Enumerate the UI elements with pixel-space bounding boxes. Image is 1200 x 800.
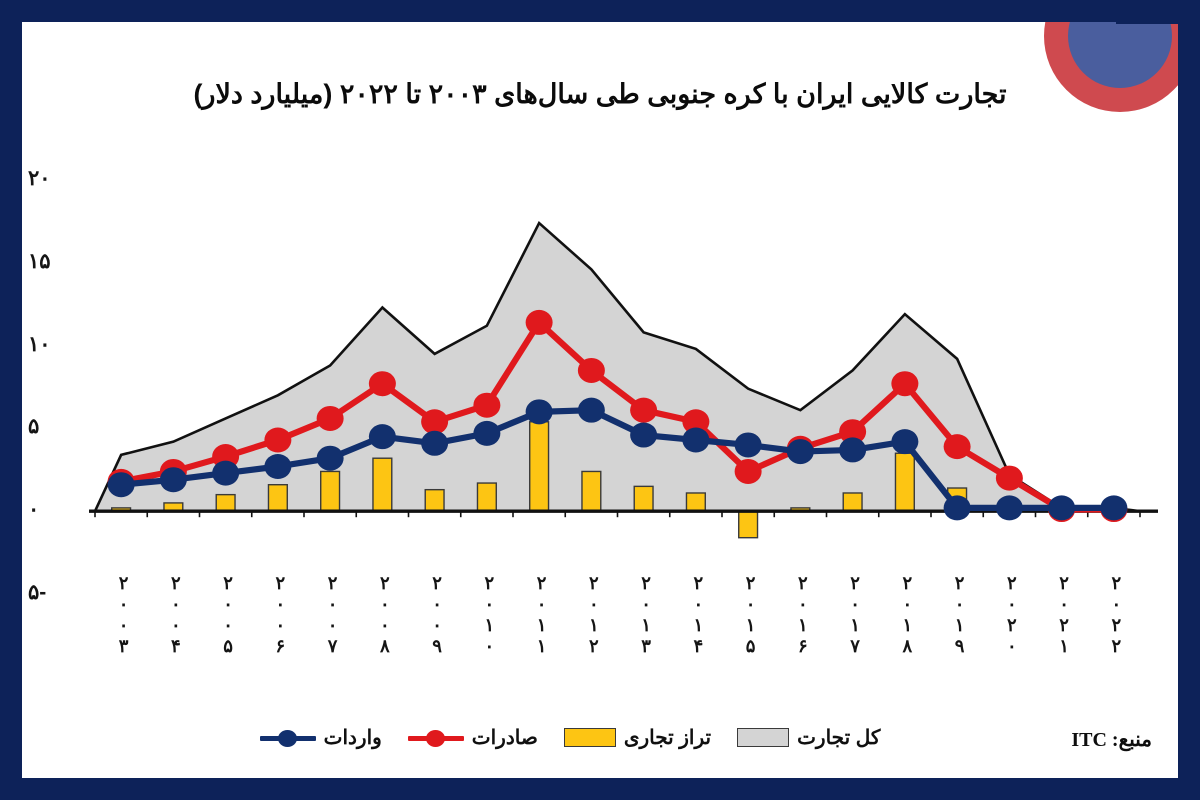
x-axis-year-label: ۲۰۲۰ [998,573,1020,657]
y-axis-tick-label: ۵ [28,414,86,439]
chart-card: تجارت کالایی ایران با کره جنوبی طی سال‌ه… [22,22,1178,778]
x-axis-year-label: ۲۰۱۳ [633,573,655,657]
import-point [787,439,814,464]
trade-balance-bar [530,422,549,511]
trade-balance-bar [477,483,496,511]
x-axis-year-label: ۲۰۱۸ [894,573,916,657]
import-point [421,431,448,456]
import-point [1048,495,1075,520]
import-point [996,495,1023,520]
trade-balance-bar [582,471,601,511]
x-axis-year-label: ۲۰۱۲ [580,573,602,657]
y-axis-tick-label: ۰ [28,497,86,522]
import-point [264,454,291,479]
import-point [1100,495,1127,520]
x-axis-year-label: ۲۰۲۲ [1103,573,1125,657]
chart-canvas [22,22,1178,778]
legend-bar-swatch [564,728,616,747]
plot-area: ۲۰۱۵۱۰۵۰-۵ ۲۰۰۳۲۰۰۴۲۰۰۵۲۰۰۶۲۰۰۷۲۰۰۸۲۰۰۹۲… [22,22,1178,778]
x-axis-year-label: ۲۰۱۵ [737,573,759,657]
export-point [630,398,657,423]
export-point [996,466,1023,491]
export-point [421,409,448,434]
y-axis-tick-label: ۲۰ [28,166,86,191]
x-axis-year-label: ۲۰۰۸ [371,573,393,657]
import-point [578,398,605,423]
trade-balance-bar [634,486,653,511]
trade-balance-bar [425,490,444,512]
trade-balance-bar [373,458,392,511]
legend-label: تراز تجاری [624,725,711,750]
x-axis-year-label: ۲۰۰۵ [215,573,237,657]
import-point [735,432,762,457]
x-axis-year-label: ۲۰۰۳ [110,573,132,657]
legend-marker-dot [426,730,445,747]
source-note: منبع: ITC [1071,727,1152,752]
trade-balance-bar [843,493,862,511]
export-point [578,358,605,383]
legend-label: صادرات [472,725,538,750]
x-axis-year-label: ۲۰۰۶ [267,573,289,657]
import-point [473,421,500,446]
x-axis-year-label: ۲۰۰۹ [424,573,446,657]
frame-corner-accent [1116,0,1200,24]
x-axis-year-label: ۲۰۰۴ [162,573,184,657]
import-point [369,424,396,449]
chart-legend: وارداتصادراتتراز تجاریکل تجارت [22,725,1178,750]
legend-line-swatch [260,729,316,747]
legend-item: واردات [260,725,382,750]
y-axis-tick-label: ۱۵ [28,249,86,274]
trade-balance-bar [321,471,340,511]
trade-balance-bar [216,495,235,512]
legend-marker-dot [278,730,297,747]
trade-balance-bar [739,511,758,537]
x-axis-year-label: ۲۰۰۷ [319,573,341,657]
import-point [160,467,187,492]
legend-line-swatch [408,729,464,747]
x-axis-year-label: ۲۰۱۶ [789,573,811,657]
export-point [526,310,553,335]
export-point [891,371,918,396]
y-axis-tick-label: -۵ [28,580,86,605]
x-axis-year-label: ۲۰۱۹ [946,573,968,657]
import-point [682,427,709,452]
import-point [317,446,344,471]
import-point [526,399,553,424]
import-point [108,472,135,497]
legend-item: صادرات [408,725,538,750]
trade-balance-bar [895,453,914,511]
trade-balance-bar [686,493,705,511]
import-point [944,495,971,520]
x-axis-year-label: ۲۰۱۷ [842,573,864,657]
export-point [944,434,971,459]
export-point [317,406,344,431]
x-axis-year-label: ۲۰۲۱ [1051,573,1073,657]
import-point [630,423,657,448]
trade-balance-bar [268,485,287,511]
export-point [735,459,762,484]
import-point [891,429,918,454]
export-point [264,427,291,452]
import-point [839,437,866,462]
import-point [212,461,239,486]
x-axis-tickmarks [95,511,1140,517]
legend-item: کل تجارت [737,725,880,750]
export-point [473,393,500,418]
export-point [369,371,396,396]
y-axis-tick-label: ۱۰ [28,332,86,357]
x-axis-year-label: ۲۰۱۱ [528,573,550,657]
legend-item: تراز تجاری [564,725,711,750]
legend-label: واردات [324,725,382,750]
poster-page: تجارت کالایی ایران با کره جنوبی طی سال‌ه… [0,0,1200,800]
x-axis-year-label: ۲۰۱۰ [476,573,498,657]
x-axis-year-label: ۲۰۱۴ [685,573,707,657]
legend-area-swatch [737,728,789,747]
legend-label: کل تجارت [797,725,880,750]
